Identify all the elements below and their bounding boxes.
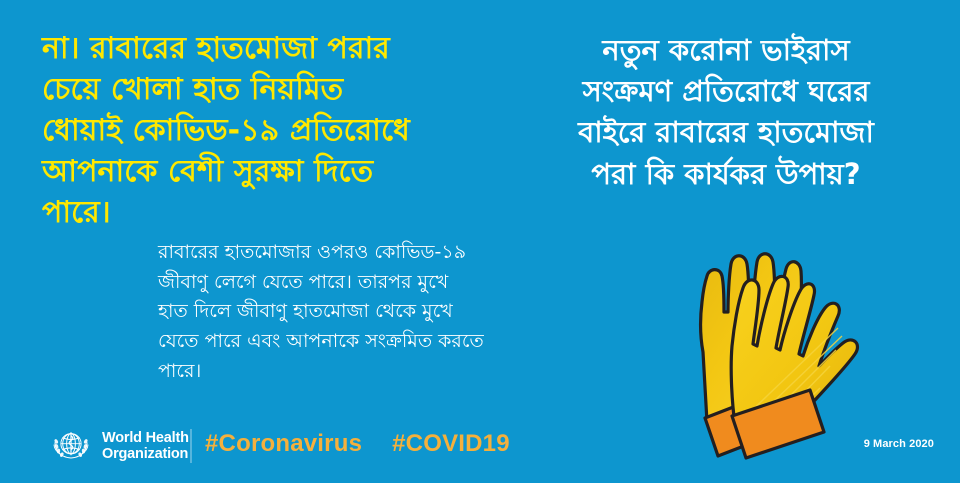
date-stamp: 9 March 2020 [864,438,934,450]
explanation-paragraph: রাবারের হাতমোজার ওপরও কোভিড-১৯ জীবাণু লে… [158,238,608,386]
answer-headline: না। রাবারের হাতমোজা পরার চেয়ে খোলা হাত … [42,28,497,233]
hashtag-coronavirus[interactable]: #Coronavirus [205,430,362,458]
poster-canvas: না। রাবারের হাতমোজা পরার চেয়ে খোলা হাত … [0,0,960,483]
question-headline: নতুন করোনা ভাইরাস সংক্রমণ প্রতিরোধে ঘরের… [500,30,952,195]
who-wordmark-line1: World Health [102,430,189,446]
who-logo-lockup: World HealthOrganization [48,423,189,469]
who-emblem-svg [48,423,94,469]
hashtag-group: #Coronavirus #COVID19 [205,430,510,458]
hashtag-covid19[interactable]: #COVID19 [392,430,510,458]
who-wordmark: World HealthOrganization [102,430,189,462]
footer-bar: World HealthOrganization #Coronavirus #C… [0,411,960,483]
footer-divider [190,429,192,463]
who-wordmark-line2: Organization [102,446,188,462]
who-emblem-icon [48,423,94,469]
